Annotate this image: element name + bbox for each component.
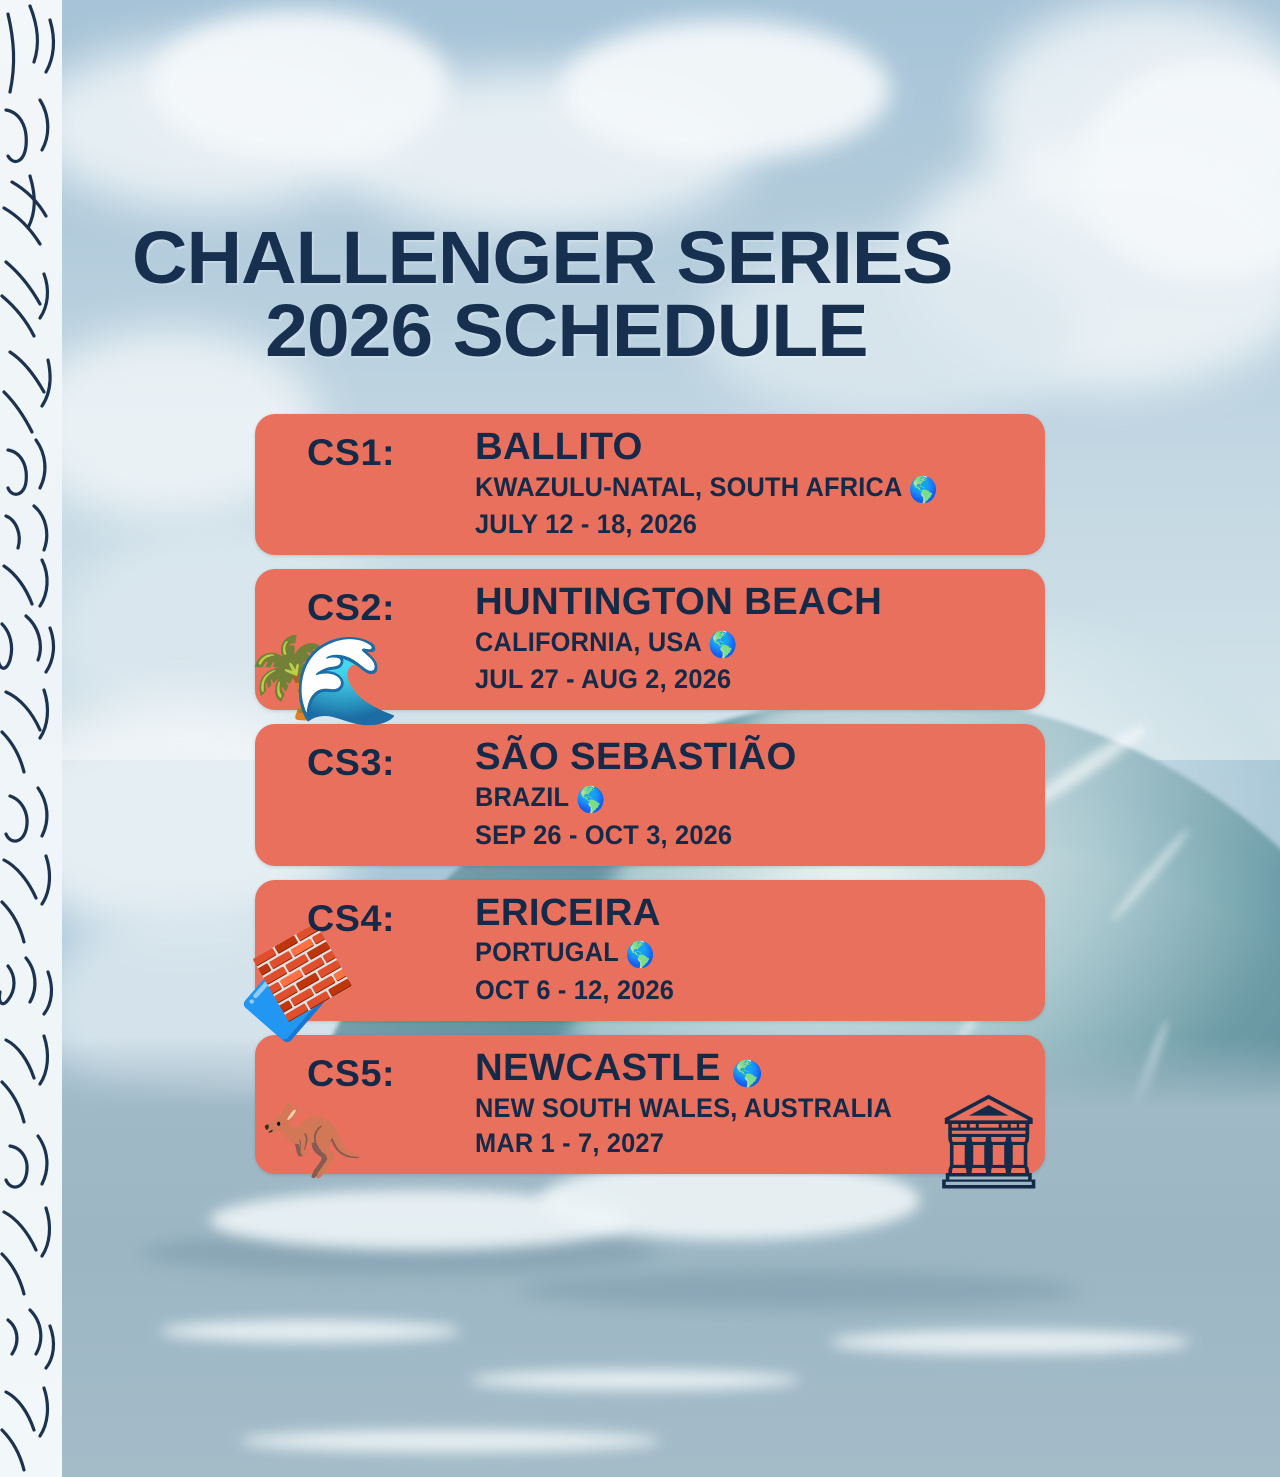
event-venue: BALLITO: [475, 428, 1028, 467]
event-region: KWAZULU-NATAL, SOUTH AFRICA 🌎: [475, 471, 990, 506]
cloud-shape: [560, 20, 890, 160]
sea-foam: [830, 1330, 1190, 1354]
globe-icon: 🌎: [732, 1060, 764, 1088]
schedule-list: CS1: BALLITO KWAZULU-NATAL, SOUTH AFRICA…: [255, 414, 1045, 1188]
event-venue: SÃO SEBASTIÃO: [475, 738, 1028, 777]
event-venue-text: NEWCASTLE: [475, 1047, 721, 1089]
title-line-2: 2026 SCHEDULE: [265, 295, 952, 368]
event-region: BRAZIL 🌎: [475, 781, 990, 816]
schedule-card-cs4[interactable]: 🔷 🧱 CS4: ERICEIRA PORTUGAL 🌎 OCT 6 - 12,…: [255, 880, 1045, 1021]
page-title: CHALLENGER SERIES 2026 SCHEDULE: [132, 222, 952, 367]
event-dates: JUL 27 - AUG 2, 2026: [475, 663, 990, 696]
event-code: CS3:: [307, 738, 478, 781]
event-region: NEW SOUTH WALES, AUSTRALIA: [475, 1092, 990, 1125]
challenger-series-poster: CHALLENGER SERIES 2026 SCHEDULE CS1: BAL…: [0, 0, 1280, 1477]
event-details: ERICEIRA PORTUGAL 🌎 OCT 6 - 12, 2026: [475, 894, 1023, 1007]
ocean-wave-icon: 🌊: [293, 638, 400, 724]
globe-icon: 🌎: [626, 941, 655, 969]
event-code: CS1:: [307, 428, 478, 471]
event-code: CS2:: [307, 583, 478, 626]
sea-shadow: [520, 1270, 1080, 1310]
event-dates: OCT 6 - 12, 2026: [475, 974, 990, 1007]
title-line-1: CHALLENGER SERIES: [132, 222, 952, 295]
event-region-text: PORTUGAL: [475, 937, 618, 967]
event-code: CS4:: [307, 894, 478, 937]
event-venue: ERICEIRA: [475, 894, 1028, 933]
event-venue: HUNTINGTON BEACH: [475, 583, 1028, 622]
event-details: HUNTINGTON BEACH CALIFORNIA, USA 🌎 JUL 2…: [475, 583, 1023, 696]
event-region-text: KWAZULU-NATAL, SOUTH AFRICA: [475, 472, 902, 502]
doodle-border-strip: [0, 0, 62, 1477]
globe-icon: 🌎: [909, 476, 938, 504]
schedule-card-cs2[interactable]: 🌴 🌊 CS2: HUNTINGTON BEACH CALIFORNIA, US…: [255, 569, 1045, 710]
event-region: PORTUGAL 🌎: [475, 936, 990, 971]
schedule-card-cs1[interactable]: CS1: BALLITO KWAZULU-NATAL, SOUTH AFRICA…: [255, 414, 1045, 555]
doodle-marks: [0, 0, 62, 1477]
event-dates: MAR 1 - 7, 2027: [475, 1127, 990, 1160]
schedule-card-cs5[interactable]: 🦘 🏛 CS5: NEWCASTLE 🌎 NEW SOUTH WALES, AU…: [255, 1035, 1045, 1175]
globe-icon: 🌎: [708, 631, 737, 659]
event-region-text: CALIFORNIA, USA: [475, 627, 701, 657]
event-code: CS5:: [307, 1049, 478, 1092]
kangaroo-icon: 🦘: [261, 1102, 363, 1184]
sea-foam: [240, 1430, 660, 1452]
palm-tree-icon: 🌴: [243, 638, 340, 716]
event-details: NEWCASTLE 🌎 NEW SOUTH WALES, AUSTRALIA M…: [475, 1049, 1023, 1161]
event-dates: JULY 12 - 18, 2026: [475, 508, 990, 541]
event-details: SÃO SEBASTIÃO BRAZIL 🌎 SEP 26 - OCT 3, 2…: [475, 738, 1023, 851]
event-region-text: BRAZIL: [475, 782, 569, 812]
globe-icon: 🌎: [576, 786, 605, 814]
event-dates: SEP 26 - OCT 3, 2026: [475, 819, 990, 852]
event-region: CALIFORNIA, USA 🌎: [475, 626, 990, 661]
sea-foam: [160, 1320, 460, 1342]
event-venue: NEWCASTLE 🌎: [475, 1049, 1028, 1088]
schedule-card-cs3[interactable]: CS3: SÃO SEBASTIÃO BRAZIL 🌎 SEP 26 - OCT…: [255, 724, 1045, 865]
sea-foam: [470, 1370, 800, 1390]
event-details: BALLITO KWAZULU-NATAL, SOUTH AFRICA 🌎 JU…: [475, 428, 1023, 541]
